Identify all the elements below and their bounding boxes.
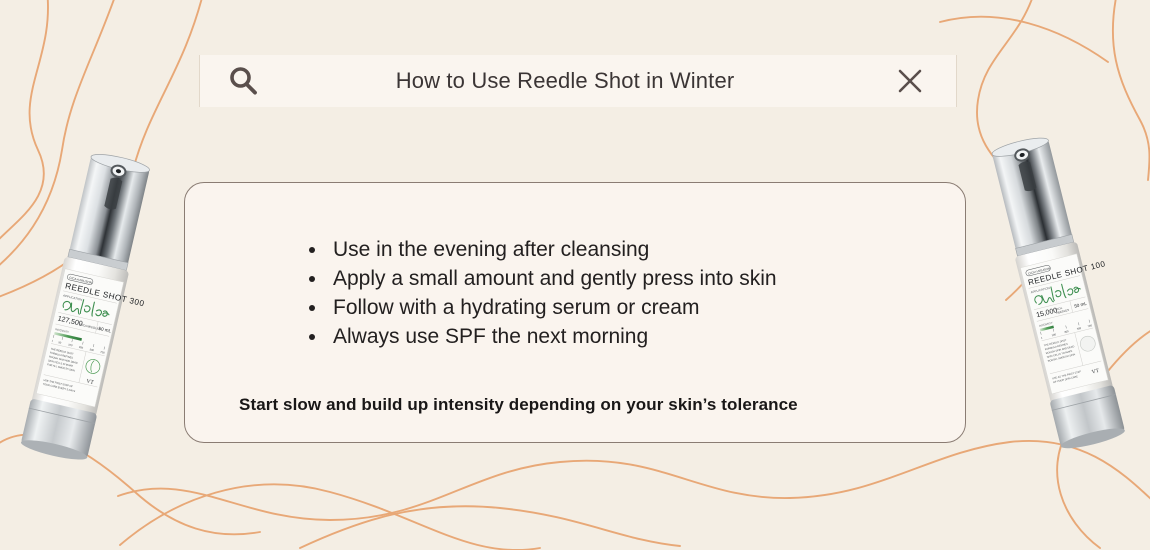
search-bar-title: How to Use Reedle Shot in Winter bbox=[266, 68, 864, 94]
list-item-label: Use in the evening after cleansing bbox=[333, 238, 649, 261]
close-icon[interactable] bbox=[864, 65, 956, 97]
list-item: Always use SPF the next morning bbox=[304, 322, 777, 351]
list-item-label: Always use SPF the next morning bbox=[333, 325, 648, 348]
list-item: Follow with a hydrating serum or cream bbox=[304, 293, 777, 322]
list-item: Use in the evening after cleansing bbox=[304, 235, 777, 264]
instruction-list: Use in the evening after cleansing Apply… bbox=[304, 235, 777, 351]
product-bottle-left: CICA+VIRUSON REEDLE SHOT 300 APPLICATION bbox=[12, 152, 172, 482]
list-item-label: Apply a small amount and gently press in… bbox=[333, 267, 777, 290]
bullet-dot-icon bbox=[309, 247, 315, 253]
product-bottle-right: CICA+VIRUSON REEDLE SHOT 100 APPLICATION… bbox=[985, 130, 1145, 475]
footnote-text: Start slow and build up intensity depend… bbox=[239, 395, 798, 415]
search-bar[interactable]: How to Use Reedle Shot in Winter bbox=[199, 55, 957, 107]
list-item: Apply a small amount and gently press in… bbox=[304, 264, 777, 293]
bullet-dot-icon bbox=[309, 305, 315, 311]
list-item-label: Follow with a hydrating serum or cream bbox=[333, 296, 699, 319]
bullet-dot-icon bbox=[309, 276, 315, 282]
page-root: CICA+VIRUSON REEDLE SHOT 300 APPLICATION bbox=[0, 0, 1150, 550]
content-card: Use in the evening after cleansing Apply… bbox=[184, 182, 966, 443]
bullet-dot-icon bbox=[309, 334, 315, 340]
